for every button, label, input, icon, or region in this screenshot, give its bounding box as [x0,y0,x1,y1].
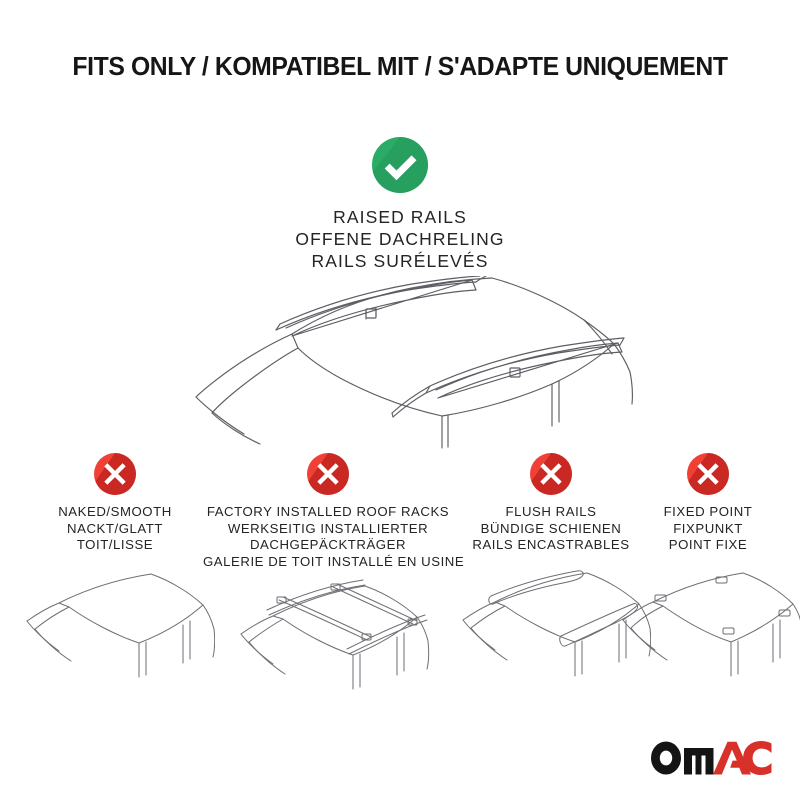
incompatible-label-en: NAKED/SMOOTH [5,504,225,521]
compatible-labels: RAISED RAILS OFFENE DACHRELING RAILS SUR… [0,206,800,272]
incompatible-label-de-1: WERKSEITIG INSTALLIERTER [203,521,453,538]
incompatible-item-naked-smooth: NAKED/SMOOTH NACKT/GLATT TOIT/LISSE [5,452,225,692]
incompatible-label-fr: GALERIE DE TOIT INSTALLÉ EN USINE [203,554,453,571]
incompatible-label-fr: TOIT/LISSE [5,537,225,554]
cross-circle-icon [529,452,573,496]
cross-circle-icon [686,452,730,496]
cross-circle-icon [93,452,137,496]
compatible-label-fr: RAILS SURÉLEVÉS [0,250,800,272]
cross-circle-icon [306,452,350,496]
compatible-label-de: OFFENE DACHRELING [0,228,800,250]
car-roof-with-raised-rails-illustration [180,276,640,456]
compatible-label-en: RAISED RAILS [0,206,800,228]
car-roof-factory-installed-roof-racks-illustration [203,570,453,700]
incompatible-labels: FACTORY INSTALLED ROOF RACKS WERKSEITIG … [203,504,453,570]
incompatible-item-fixed-point: FIXED POINT FIXPUNKT POINT FIXE [613,452,800,691]
header: FITS ONLY / KOMPATIBEL MIT / S'ADAPTE UN… [0,53,800,82]
incompatible-label-en: FIXED POINT [613,504,800,521]
compatible-section: RAISED RAILS OFFENE DACHRELING RAILS SUR… [0,136,800,272]
check-circle-icon [371,136,429,194]
incompatible-label-de: NACKT/GLATT [5,521,225,538]
car-roof-fixed-point-illustration [613,566,800,691]
page-title: FITS ONLY / KOMPATIBEL MIT / S'ADAPTE UN… [12,53,788,82]
car-roof-naked-smooth-illustration [5,567,225,692]
incompatible-label-de: FIXPUNKT [613,521,800,538]
incompatible-labels: FIXED POINT FIXPUNKT POINT FIXE [613,504,800,554]
incompatible-label-en: FACTORY INSTALLED ROOF RACKS [203,504,453,521]
incompatible-label-de-2: DACHGEPÄCKTRÄGER [203,537,453,554]
incompatible-labels: NAKED/SMOOTH NACKT/GLATT TOIT/LISSE [5,504,225,554]
incompatible-item-factory-roof-racks: FACTORY INSTALLED ROOF RACKS WERKSEITIG … [203,452,453,700]
incompatible-label-fr: POINT FIXE [613,537,800,554]
incompatible-section: NAKED/SMOOTH NACKT/GLATT TOIT/LISSE [0,452,800,702]
omac-logo [650,741,772,775]
